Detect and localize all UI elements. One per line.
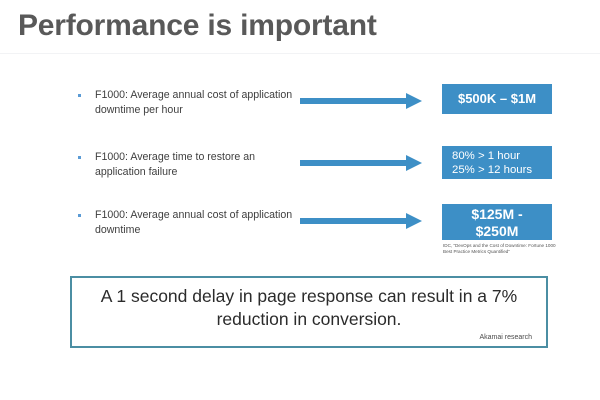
value-line: $125M - bbox=[442, 206, 552, 223]
title-area: Performance is important bbox=[0, 0, 600, 54]
right-arrow-icon bbox=[300, 213, 428, 229]
bullet-text: F1000: Average annual cost of applicatio… bbox=[95, 88, 293, 118]
title-divider bbox=[0, 53, 600, 54]
square-bullet-icon bbox=[78, 94, 81, 97]
value-box: $125M - $250M bbox=[442, 204, 552, 240]
source-citation: IDC, “DevOps and the Cost of Downtime: F… bbox=[443, 243, 563, 255]
value-box: 80% > 1 hour 25% > 12 hours bbox=[442, 146, 552, 179]
bullet-text: F1000: Average time to restore an applic… bbox=[95, 150, 293, 180]
right-arrow-icon bbox=[300, 155, 428, 171]
value-box: $500K – $1M bbox=[442, 84, 552, 114]
square-bullet-icon bbox=[78, 156, 81, 159]
arrow-shaft bbox=[300, 98, 408, 104]
arrow-head bbox=[406, 213, 422, 229]
arrow-head bbox=[406, 93, 422, 109]
bullet-text: F1000: Average annual cost of applicatio… bbox=[95, 208, 293, 238]
callout-text: A 1 second delay in page response can re… bbox=[80, 285, 538, 331]
value-line: 25% > 12 hours bbox=[452, 164, 552, 178]
slide-canvas: Performance is important F1000: Average … bbox=[0, 0, 600, 400]
arrow-shaft bbox=[300, 160, 408, 166]
value-line: 80% > 1 hour bbox=[452, 150, 552, 164]
callout-box: A 1 second delay in page response can re… bbox=[70, 276, 548, 348]
right-arrow-icon bbox=[300, 93, 428, 109]
callout-source: Akamai research bbox=[479, 334, 532, 341]
page-title: Performance is important bbox=[18, 9, 377, 43]
value-line: $500K – $1M bbox=[442, 84, 552, 114]
arrow-shaft bbox=[300, 218, 408, 224]
value-line: $250M bbox=[442, 223, 552, 240]
arrow-head bbox=[406, 155, 422, 171]
square-bullet-icon bbox=[78, 214, 81, 217]
